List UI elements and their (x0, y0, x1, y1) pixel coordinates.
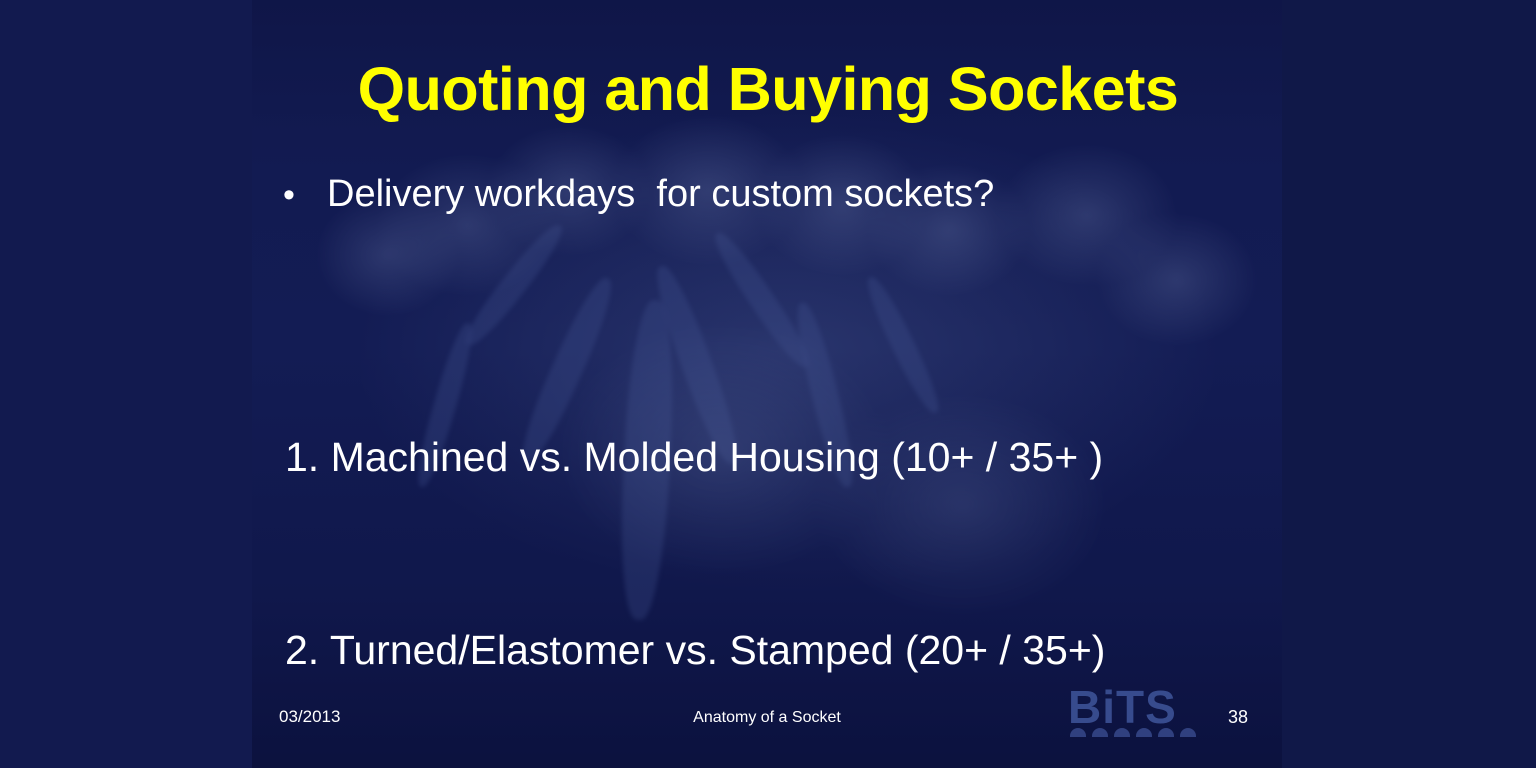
numbered-list: 1. Machined vs. Molded Housing (10+ / 35… (285, 296, 1105, 768)
presentation-slide: Quoting and Buying Sockets • Delivery wo… (0, 0, 1536, 768)
numbered-list-item: 1. Machined vs. Molded Housing (10+ / 35… (285, 425, 1105, 489)
bullet-point-icon: • (283, 178, 327, 212)
footer-presentation-title: Anatomy of a Socket (252, 710, 1282, 726)
bullet-item-label: Delivery workdays for custom sockets? (327, 172, 994, 217)
bullet-item: • Delivery workdays for custom sockets? (283, 172, 994, 217)
footer-page-number: 38 (1228, 708, 1248, 726)
slide-title: Quoting and Buying Sockets (0, 57, 1536, 121)
numbered-list-item: 2. Turned/Elastomer vs. Stamped (20+ / 3… (285, 618, 1105, 682)
